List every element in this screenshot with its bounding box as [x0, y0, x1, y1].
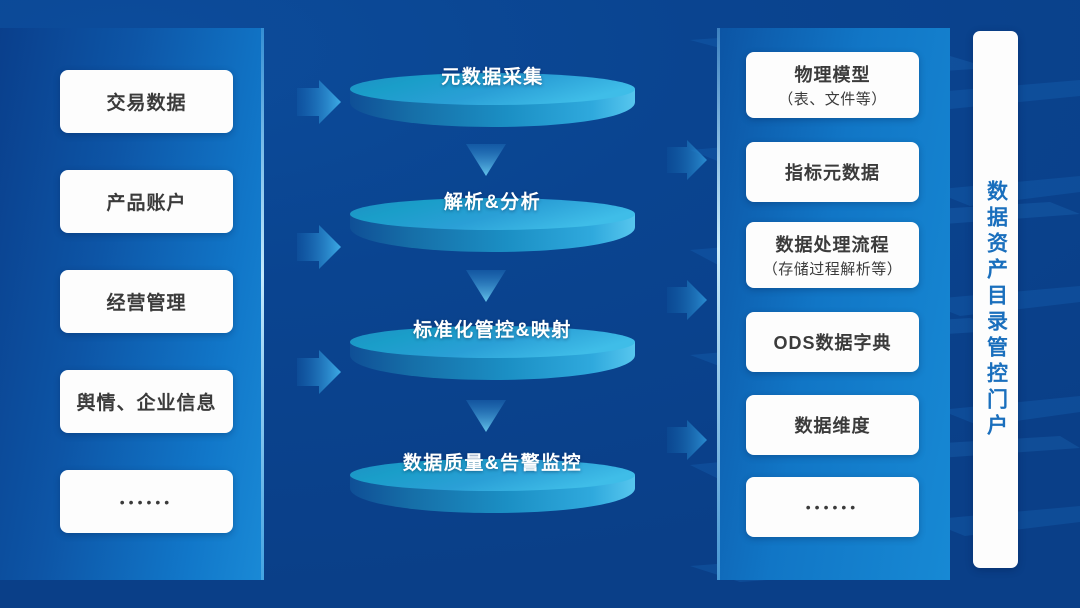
- asset-card-3[interactable]: ODS数据字典: [746, 312, 919, 372]
- asset-card-2[interactable]: 数据处理流程 （存储过程解析等）: [746, 222, 919, 288]
- flow-arrow-right-6: [665, 418, 709, 462]
- source-card-label: 舆情、企业信息: [76, 388, 216, 415]
- asset-card-line1: 物理模型: [795, 61, 871, 87]
- asset-card-line1: 数据维度: [795, 412, 871, 438]
- asset-card-5[interactable]: ••••••: [746, 477, 919, 537]
- asset-card-4[interactable]: 数据维度: [746, 395, 919, 455]
- source-card-label: 产品账户: [106, 188, 186, 215]
- flow-arrow-right-5: [665, 278, 709, 322]
- flow-arrow-down-3: [466, 400, 506, 434]
- pipeline-stage-3[interactable]: 数据质量&告警监控: [350, 448, 635, 524]
- pipeline-stage-2[interactable]: 标准化管控&映射: [350, 315, 635, 391]
- asset-card-line2: （表、文件等）: [778, 88, 887, 109]
- asset-card-line1: ••••••: [806, 499, 859, 515]
- source-card-1[interactable]: 产品账户: [60, 170, 233, 233]
- flow-arrow-right-3: [295, 348, 343, 396]
- flow-arrow-down-2: [466, 270, 506, 304]
- pipeline-stage-label: 数据质量&告警监控: [350, 448, 635, 475]
- pipeline-stage-label: 元数据采集: [350, 62, 635, 89]
- portal-label: 数据资产目录管控门户: [981, 180, 1011, 440]
- pipeline-stage-label: 标准化管控&映射: [350, 315, 635, 342]
- portal-bar[interactable]: 数据资产目录管控门户: [973, 31, 1018, 568]
- flow-arrow-right-2: [295, 223, 343, 271]
- asset-card-1[interactable]: 指标元数据: [746, 142, 919, 202]
- source-card-label: ••••••: [120, 494, 173, 510]
- source-card-label: 经营管理: [106, 288, 186, 315]
- asset-card-0[interactable]: 物理模型 （表、文件等）: [746, 52, 919, 118]
- asset-card-line1: 数据处理流程: [776, 231, 890, 257]
- pipeline-stage-0[interactable]: 元数据采集: [350, 62, 635, 138]
- source-card-3[interactable]: 舆情、企业信息: [60, 370, 233, 433]
- pipeline-stage-1[interactable]: 解析&分析: [350, 187, 635, 263]
- asset-card-line2: （存储过程解析等）: [763, 258, 903, 279]
- flow-arrow-right-4: [665, 138, 709, 182]
- asset-card-line1: ODS数据字典: [773, 329, 891, 355]
- diagram-canvas: 交易数据 产品账户 经营管理 舆情、企业信息 ••••••: [0, 0, 1080, 608]
- source-card-0[interactable]: 交易数据: [60, 70, 233, 133]
- source-card-label: 交易数据: [106, 88, 186, 115]
- flow-arrow-right-1: [295, 78, 343, 126]
- source-card-4[interactable]: ••••••: [60, 470, 233, 533]
- pipeline-stage-label: 解析&分析: [350, 187, 635, 214]
- asset-card-line1: 指标元数据: [785, 159, 880, 185]
- source-card-2[interactable]: 经营管理: [60, 270, 233, 333]
- flow-arrow-down-1: [466, 144, 506, 178]
